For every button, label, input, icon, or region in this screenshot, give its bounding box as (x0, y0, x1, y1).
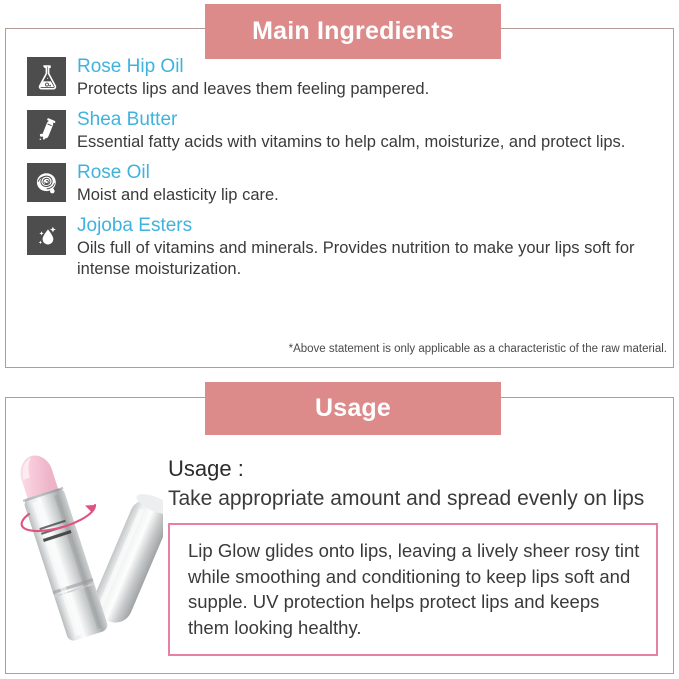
droplet-sparkle-icon (27, 216, 66, 255)
usage-banner: Usage (205, 382, 501, 435)
usage-title: Usage (315, 394, 391, 423)
ingredient-text: Rose Hip Oil Protects lips and leaves th… (77, 55, 429, 100)
ingredient-text: Shea Butter Essential fatty acids with v… (77, 108, 625, 153)
ingredient-name: Rose Oil (77, 161, 279, 184)
usage-heading: Usage : (168, 455, 658, 483)
ingredient-item-rose-oil: Rose Oil Moist and elasticity lip care. (27, 161, 642, 206)
raw-material-disclaimer: *Above statement is only applicable as a… (0, 343, 667, 355)
rose-flower-icon (27, 163, 66, 202)
ingredient-description: Protects lips and leaves them feeling pa… (77, 79, 429, 100)
usage-instruction: Take appropriate amount and spread evenl… (168, 484, 658, 513)
lipstick-body (11, 450, 109, 643)
lipstick-tube-product-photo (8, 437, 163, 667)
ingredient-item-rose-hip-oil: Rose Hip Oil Protects lips and leaves th… (27, 55, 642, 100)
ingredient-text: Rose Oil Moist and elasticity lip care. (77, 161, 279, 206)
ingredient-description: Moist and elasticity lip care. (77, 185, 279, 206)
ingredient-list: Rose Hip Oil Protects lips and leaves th… (27, 55, 642, 288)
usage-callout-text: Lip Glow glides onto lips, leaving a liv… (188, 538, 640, 640)
ingredient-text: Jojoba Esters Oils full of vitamins and … (77, 214, 637, 280)
main-ingredients-banner: Main Ingredients (205, 4, 501, 59)
ingredient-name: Shea Butter (77, 108, 625, 131)
flask-icon (27, 57, 66, 96)
ingredient-description: Essential fatty acids with vitamins to h… (77, 132, 625, 153)
ingredient-description: Oils full of vitamins and minerals. Prov… (77, 238, 637, 280)
usage-content: Usage : Take appropriate amount and spre… (168, 455, 658, 656)
ingredient-item-jojoba-esters: Jojoba Esters Oils full of vitamins and … (27, 214, 642, 280)
main-ingredients-title: Main Ingredients (252, 17, 454, 46)
ingredient-name: Jojoba Esters (77, 214, 637, 237)
ingredient-item-shea-butter: Shea Butter Essential fatty acids with v… (27, 108, 642, 153)
test-tube-icon (27, 110, 66, 149)
usage-callout-box: Lip Glow glides onto lips, leaving a liv… (168, 523, 658, 656)
